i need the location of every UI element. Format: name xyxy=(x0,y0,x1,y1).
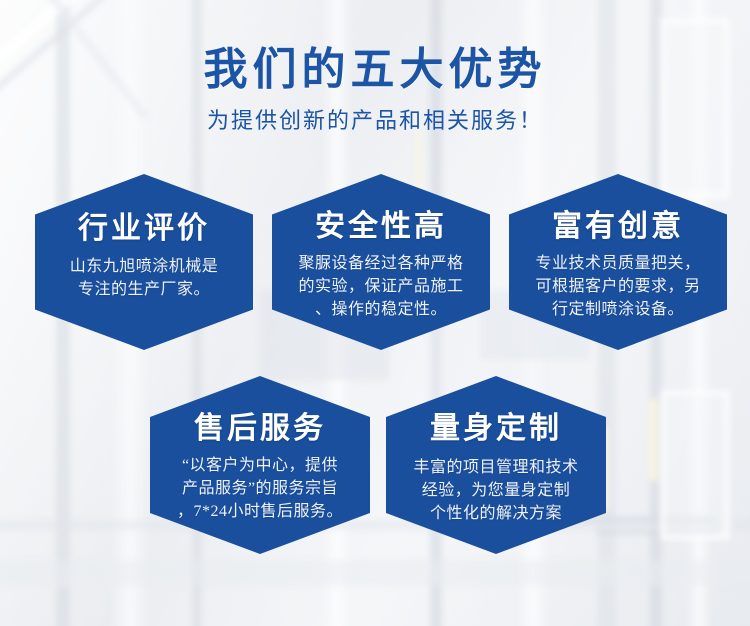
page-subtitle: 为提供创新的产品和相关服务！ xyxy=(0,106,750,136)
advantage-description-line: 山东九旭喷涂机械是 xyxy=(44,255,244,278)
advantage-description-line: 专注的生产厂家。 xyxy=(44,278,244,301)
advantage-description: 聚脲设备经过各种严格 的实验，保证产品施工 、操作的稳定性。 xyxy=(277,244,485,321)
bg-light-tube xyxy=(649,398,658,482)
advantage-description-line: 的实验，保证产品施工 xyxy=(277,275,485,298)
advantage-description: 山东九旭喷涂机械是 专注的生产厂家。 xyxy=(44,246,244,301)
advantage-description-line: ，7*24小时售后服务。 xyxy=(155,500,365,523)
advantage-description: “以客户为中心，提供 产品服务”的服务宗旨 ，7*24小时售后服务。 xyxy=(155,446,365,523)
bg-window-panel xyxy=(660,390,730,540)
advantage-description: 专业技术员质量把关， 可根据客户的要求，另 行定制喷涂设备。 xyxy=(514,244,722,321)
advantage-description-line: 行定制喷涂设备。 xyxy=(514,298,722,321)
advantage-description-line: 丰富的项目管理和技术 xyxy=(393,456,599,479)
advantage-description-line: 专业技术员质量把关， xyxy=(514,252,722,275)
advantage-description-line: 产品服务”的服务宗旨 xyxy=(155,477,365,500)
bg-light-tube xyxy=(415,130,423,190)
bg-beam xyxy=(0,560,750,586)
advantage-description-line: 个性化的解决方案 xyxy=(393,502,599,525)
header: 我们的五大优势 为提供创新的产品和相关服务！ xyxy=(0,44,750,136)
advantage-description-line: 、操作的稳定性。 xyxy=(277,298,485,321)
page-title: 我们的五大优势 xyxy=(0,44,750,96)
advantage-description-line: “以客户为中心，提供 xyxy=(155,454,365,477)
advantage-description: 丰富的项目管理和技术 经验，为您量身定制 个性化的解决方案 xyxy=(393,446,599,525)
advantage-description-line: 经验，为您量身定制 xyxy=(393,479,599,502)
advantage-description-line: 聚脲设备经过各种严格 xyxy=(277,252,485,275)
advantage-description-line: 可根据客户的要求，另 xyxy=(514,275,722,298)
